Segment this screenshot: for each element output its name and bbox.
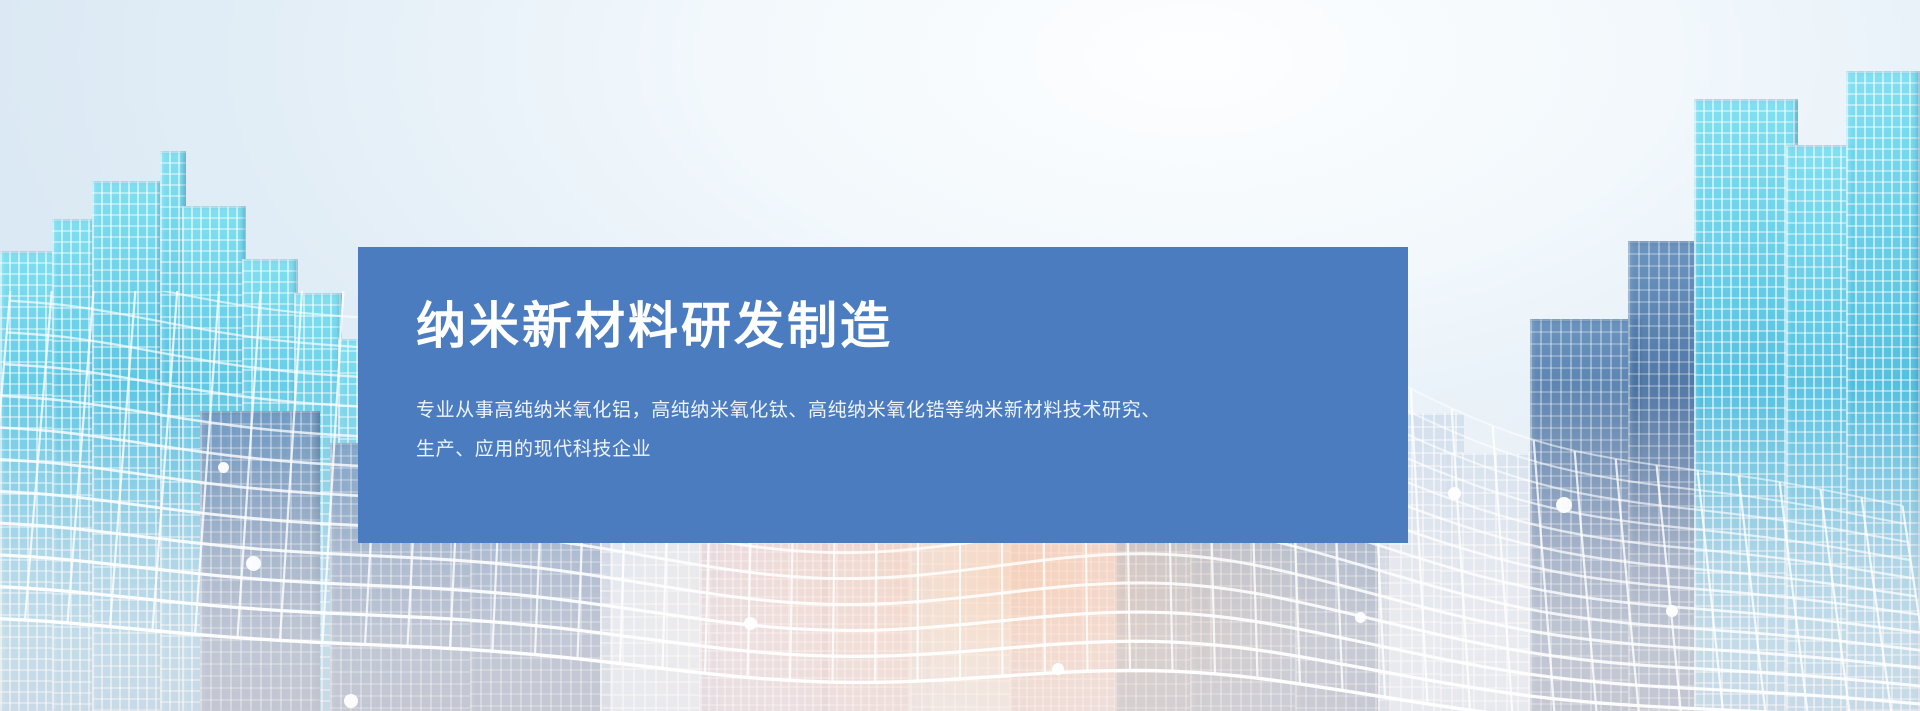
mesh-column-line (1903, 506, 1920, 711)
mesh-column-line (1411, 389, 1428, 704)
mesh-column-line (1616, 459, 1640, 711)
mesh-column-line (1862, 497, 1896, 711)
mesh-column-line (1575, 451, 1598, 711)
page-title: 纳米新材料研发制造 (416, 299, 1352, 354)
mesh-column-line (25, 291, 59, 620)
mesh-column-line (110, 291, 140, 627)
hero-subtitle: 专业从事高纯纳米氧化铝，高纯纳米氧化钛、高纯纳米氧化锆等纳米新材料技术研究、 生… (416, 392, 1352, 470)
mesh-column-line (195, 291, 222, 634)
hero-subtitle-line-2: 生产、应用的现代科技企业 (416, 431, 1352, 470)
hero-text-panel: 纳米新材料研发制造 专业从事高纯纳米氧化铝，高纯纳米氧化钛、高纯纳米氧化锆等纳米… (358, 247, 1408, 543)
hero-banner: 纳米新材料研发制造 专业从事高纯纳米氧化铝，高纯纳米氧化钛、高纯纳米氧化锆等纳米… (0, 0, 1920, 711)
hero-subtitle-line-1: 专业从事高纯纳米氧化铝，高纯纳米氧化钛、高纯纳米氧化锆等纳米新材料技术研究、 (416, 392, 1352, 431)
mesh-column-line (238, 291, 264, 638)
mesh-column-line (1534, 440, 1555, 711)
mesh-column-line (1452, 409, 1470, 711)
mesh-column-line (153, 291, 182, 631)
mesh-column-line (0, 291, 18, 618)
